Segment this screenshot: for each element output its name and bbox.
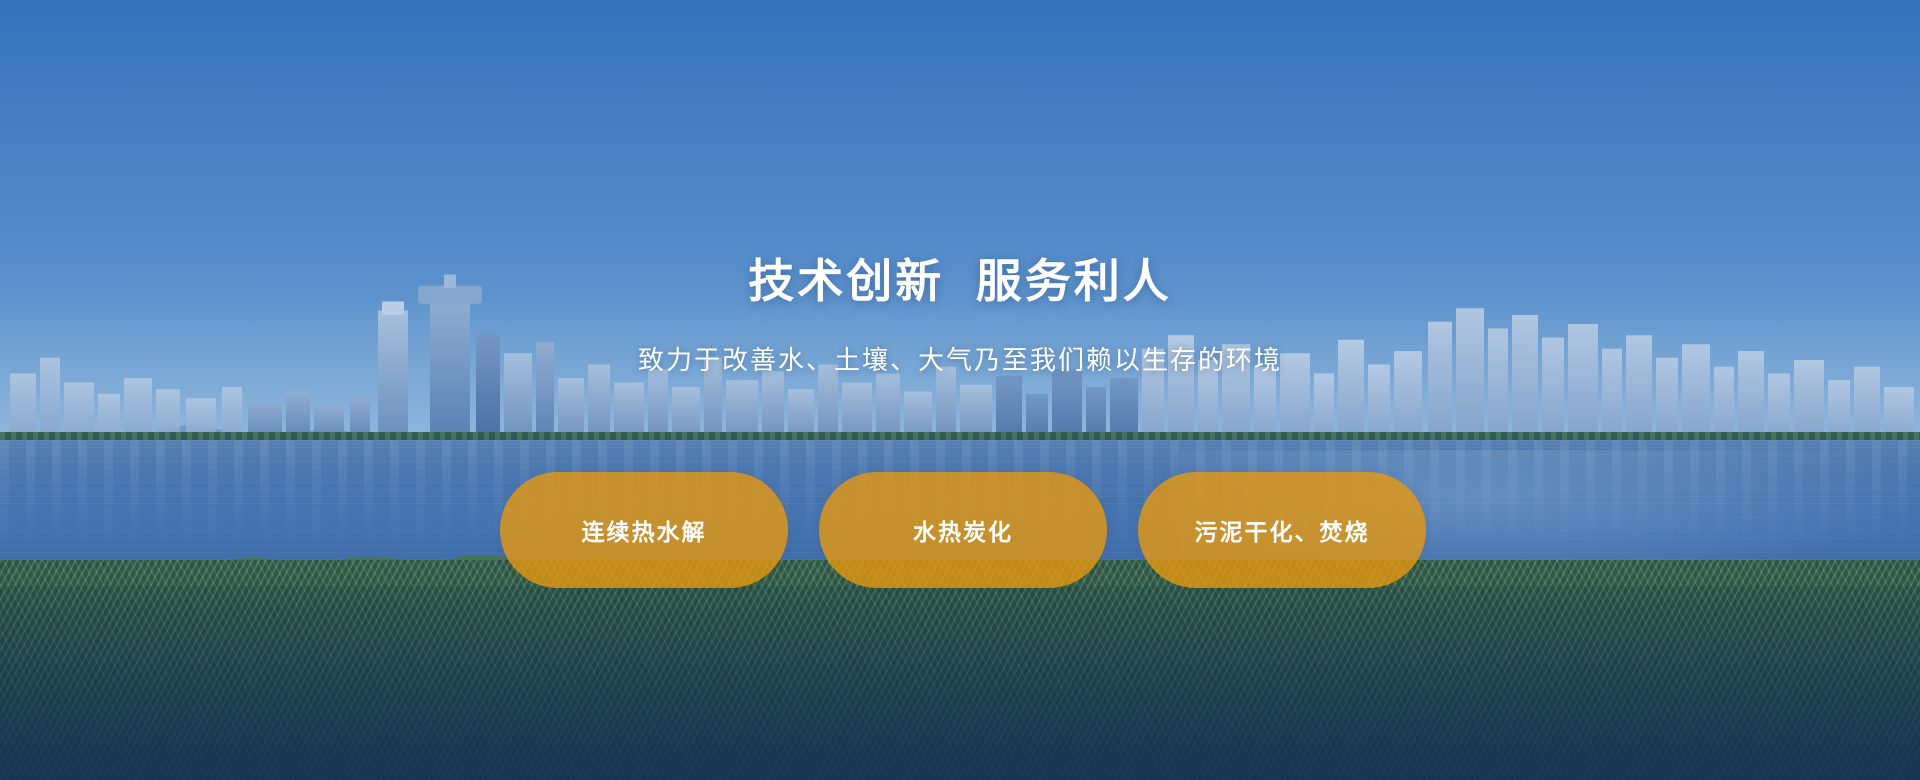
service-button-row: 连续热水解 水热炭化 污泥干化、焚烧 [500, 472, 1426, 588]
service-button-hydrothermal-carbonization[interactable]: 水热炭化 [819, 472, 1107, 588]
hero-subtitle: 致力于改善水、土壤、大气乃至我们赖以生存的环境 [0, 347, 1920, 373]
service-button-continuous-thermal-hydrolysis[interactable]: 连续热水解 [500, 472, 788, 588]
hero-banner: 技术创新 服务利人 致力于改善水、土壤、大气乃至我们赖以生存的环境 连续热水解 … [0, 0, 1920, 780]
hero-content: 技术创新 服务利人 致力于改善水、土壤、大气乃至我们赖以生存的环境 连续热水解 … [0, 0, 1920, 780]
hero-title: 技术创新 服务利人 [0, 258, 1920, 304]
service-button-sludge-drying-incineration[interactable]: 污泥干化、焚烧 [1138, 472, 1426, 588]
